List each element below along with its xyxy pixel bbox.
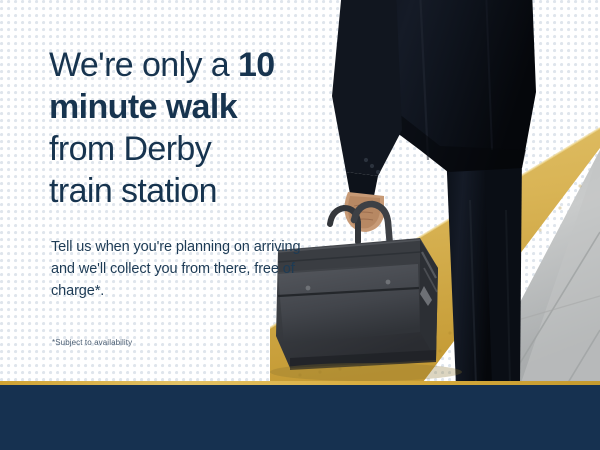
headline-line-1-plain: We're only a: [49, 46, 238, 84]
headline-line-3: from Derby: [49, 128, 349, 170]
disclaimer-text: *Subject to availability: [52, 338, 132, 347]
footer-bar: T.C. Harrison There's No Comparison Ford…: [0, 385, 600, 450]
advertisement-banner: We're only a 10 minute walk from Derby t…: [0, 0, 600, 450]
headline: We're only a 10 minute walk from Derby t…: [49, 44, 349, 212]
headline-line-2: minute walk: [49, 86, 349, 128]
headline-line-4: train station: [49, 170, 349, 212]
headline-minutes-number: 10: [238, 46, 275, 84]
headline-line-1: We're only a 10: [49, 44, 349, 86]
body-copy: Tell us when you're planning on arriving…: [51, 236, 313, 302]
